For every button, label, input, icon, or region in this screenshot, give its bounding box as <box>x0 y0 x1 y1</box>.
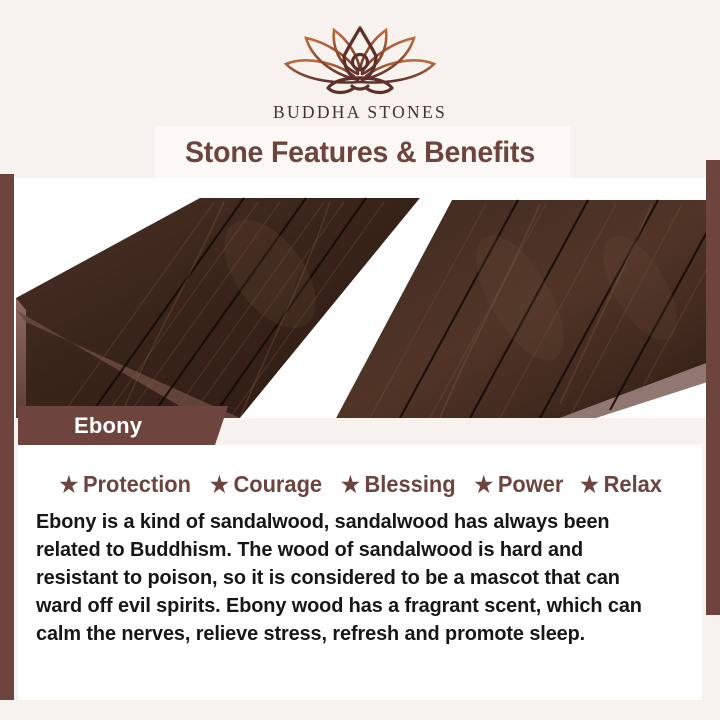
product-description: Ebony is a kind of sandalwood, sandalwoo… <box>36 508 667 648</box>
benefit-label: Courage <box>233 471 322 498</box>
star-icon: ★ <box>474 474 493 496</box>
benefits-row: ★ Protection ★ Courage ★ Blessing ★ Powe… <box>18 471 702 498</box>
product-name-banner: Ebony <box>18 406 228 445</box>
benefit-item: ★ Power <box>474 471 563 498</box>
product-name: Ebony <box>74 413 142 439</box>
star-icon: ★ <box>341 474 360 496</box>
bottom-strip <box>0 700 720 720</box>
left-accent-bar <box>0 174 14 702</box>
benefit-label: Power <box>497 471 563 498</box>
infographic-page: BUDDHA STONES Stone Features & Benefits <box>0 0 720 720</box>
brand-name: BUDDHA STONES <box>0 102 720 123</box>
benefit-label: Protection <box>82 471 190 498</box>
star-icon: ★ <box>581 474 600 496</box>
content-card: ★ Protection ★ Courage ★ Blessing ★ Powe… <box>18 445 702 700</box>
ebony-wood-planks-image <box>0 178 720 418</box>
star-icon: ★ <box>59 474 78 496</box>
star-icon: ★ <box>210 474 229 496</box>
benefit-item: ★ Protection <box>59 471 191 498</box>
lotus-meditation-icon <box>274 22 446 98</box>
benefit-item: ★ Courage <box>210 471 322 498</box>
brand-logo: BUDDHA STONES <box>0 22 720 123</box>
benefit-label: Relax <box>604 471 662 498</box>
product-photo <box>0 178 720 418</box>
benefit-label: Blessing <box>365 471 456 498</box>
benefit-item: ★ Relax <box>581 471 663 498</box>
page-title: Stone Features & Benefits <box>18 136 702 170</box>
right-accent-bar <box>706 160 720 615</box>
benefit-item: ★ Blessing <box>341 471 456 498</box>
